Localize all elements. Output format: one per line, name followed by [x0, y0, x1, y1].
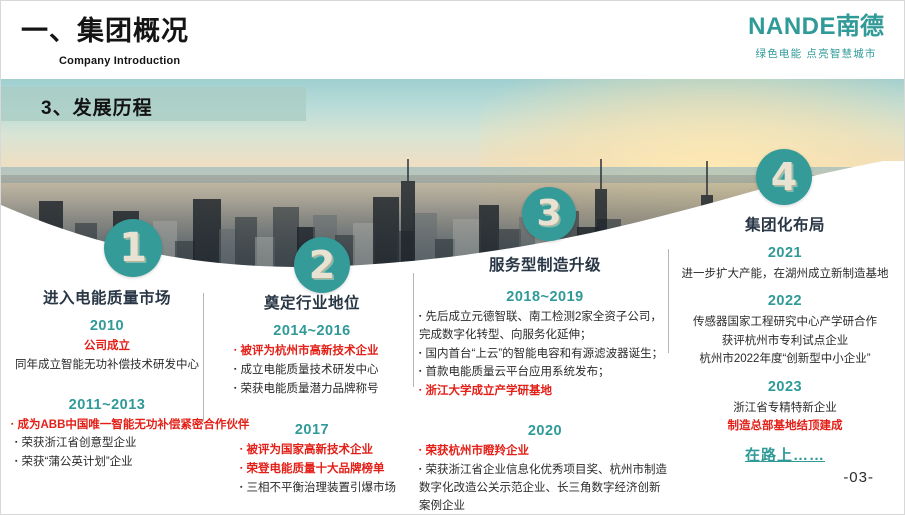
timeline-item: 公司成立 — [11, 338, 203, 356]
timeline-year-2021: 2021 — [674, 245, 896, 261]
timeline-year-2020: 2020 — [419, 423, 671, 439]
timeline-year-2010: 2010 — [11, 318, 203, 334]
timeline-item: 同年成立智能无功补偿技术研发中心 — [11, 357, 203, 375]
timeline-year-2011-2013: 2011~2013 — [11, 397, 203, 413]
timeline-item: 荣获“蒲公英计划”企业 — [15, 454, 203, 472]
timeline-item: 进一步扩大产能，在湖州成立新制造基地 — [674, 265, 896, 283]
timeline-column-1-title: 进入电能质量市场 — [11, 286, 203, 308]
timeline-item: 荣登电能质量十大品牌榜单 — [240, 461, 410, 479]
timeline-column-1: 进入电能质量市场 2010 公司成立 同年成立智能无功补偿技术研发中心 2011… — [11, 286, 203, 473]
timeline-item: 三相不平衡治理装置引爆市场 — [240, 480, 410, 498]
timeline-year-2022: 2022 — [674, 293, 896, 309]
slide-header: 一、集团概况 Company Introduction NANDE南德 绿色电能… — [1, 1, 905, 79]
timeline-item: 浙江大学成立产学研基地 — [419, 383, 671, 401]
timeline-item: 制造总部基地结顶建成 — [674, 417, 896, 435]
logo-mark-cn: 南德 — [836, 13, 884, 40]
timeline-year-2014-2016: 2014~2016 — [214, 323, 410, 339]
timeline-item: 成立电能质量技术研发中心 — [234, 362, 410, 380]
timeline-column-2-title: 奠定行业地位 — [214, 291, 410, 313]
timeline-column-3-title: 服务型制造升级 — [419, 253, 671, 275]
page-subtitle: Company Introduction — [59, 55, 180, 67]
timeline-column-2: 奠定行业地位 2014~2016 被评为杭州市高新技术企业 成立电能质量技术研发… — [214, 291, 410, 499]
timeline-footer-on-the-road: 在路上…… — [674, 444, 896, 465]
timeline-item: 荣获电能质量潜力品牌称号 — [234, 381, 410, 399]
timeline-item: 荣获杭州市瞪羚企业 — [419, 443, 671, 461]
timeline-year-2023: 2023 — [674, 379, 896, 395]
timeline-item: 成为ABB中国唯一智能无功补偿紧密合作伙伴 — [11, 417, 203, 435]
logo-tagline: 绿色电能 点亮智慧城市 — [748, 46, 884, 61]
logo-wordmark: NANDE南德 — [748, 15, 884, 39]
timeline-badge-3-number: 3 — [536, 196, 561, 232]
timeline-item: 传感器国家工程研究中心产学研合作 — [674, 313, 896, 331]
timeline-item: 被评为杭州市高新技术企业 — [234, 343, 410, 361]
logo-mark-en: NANDE — [748, 13, 836, 40]
section-band-label: 3、发展历程 — [41, 93, 153, 120]
timeline-item: 荣获浙江省创意型企业 — [15, 435, 203, 453]
timeline-column-3: 服务型制造升级 2018~2019 先后成立元德智联、南工检测2家全资子公司，完… — [419, 253, 671, 515]
timeline-item: 国内首台“上云”的智能电容和有源滤波器诞生； — [419, 346, 671, 364]
timeline-column-4-title: 集团化布局 — [674, 213, 896, 235]
timeline-item: 获评杭州市专利试点企业 — [674, 332, 896, 350]
timeline-badge-3: 3 — [522, 187, 576, 241]
timeline-item: 被评为国家高新技术企业 — [240, 442, 410, 460]
timeline-item: 先后成立元德智联、南工检测2家全资子公司，完成数字化转型、向服务化延伸； — [419, 309, 671, 345]
timeline-year-2017: 2017 — [214, 422, 410, 438]
column-divider-1 — [203, 293, 204, 421]
timeline-badge-4: 4 — [756, 149, 812, 205]
column-divider-2 — [413, 273, 414, 387]
timeline-item: 杭州市2022年度“创新型中小企业” — [674, 350, 896, 368]
timeline-item: 荣获浙江省企业信息化优秀项目奖、杭州市制造数字化改造公关示范企业、长三角数字经济… — [419, 462, 671, 515]
brand-logo: NANDE南德 绿色电能 点亮智慧城市 — [748, 15, 884, 61]
timeline-badge-2: 2 — [294, 237, 350, 293]
timeline-badge-2-number: 2 — [309, 246, 335, 284]
timeline-badge-4-number: 4 — [771, 158, 797, 196]
timeline-item: 首款电能质量云平台应用系统发布； — [419, 364, 671, 382]
page-title: 一、集团概况 — [21, 18, 189, 45]
timeline-year-2018-2019: 2018~2019 — [419, 289, 671, 305]
timeline-item: 浙江省专精特新企业 — [674, 399, 896, 417]
timeline-badge-1-number: 1 — [119, 228, 147, 268]
timeline-badge-1: 1 — [104, 219, 162, 277]
timeline-column-4: 集团化布局 2021 进一步扩大产能，在湖州成立新制造基地 2022 传感器国家… — [674, 213, 896, 465]
slide-root: 一、集团概况 Company Introduction NANDE南德 绿色电能… — [0, 0, 905, 515]
